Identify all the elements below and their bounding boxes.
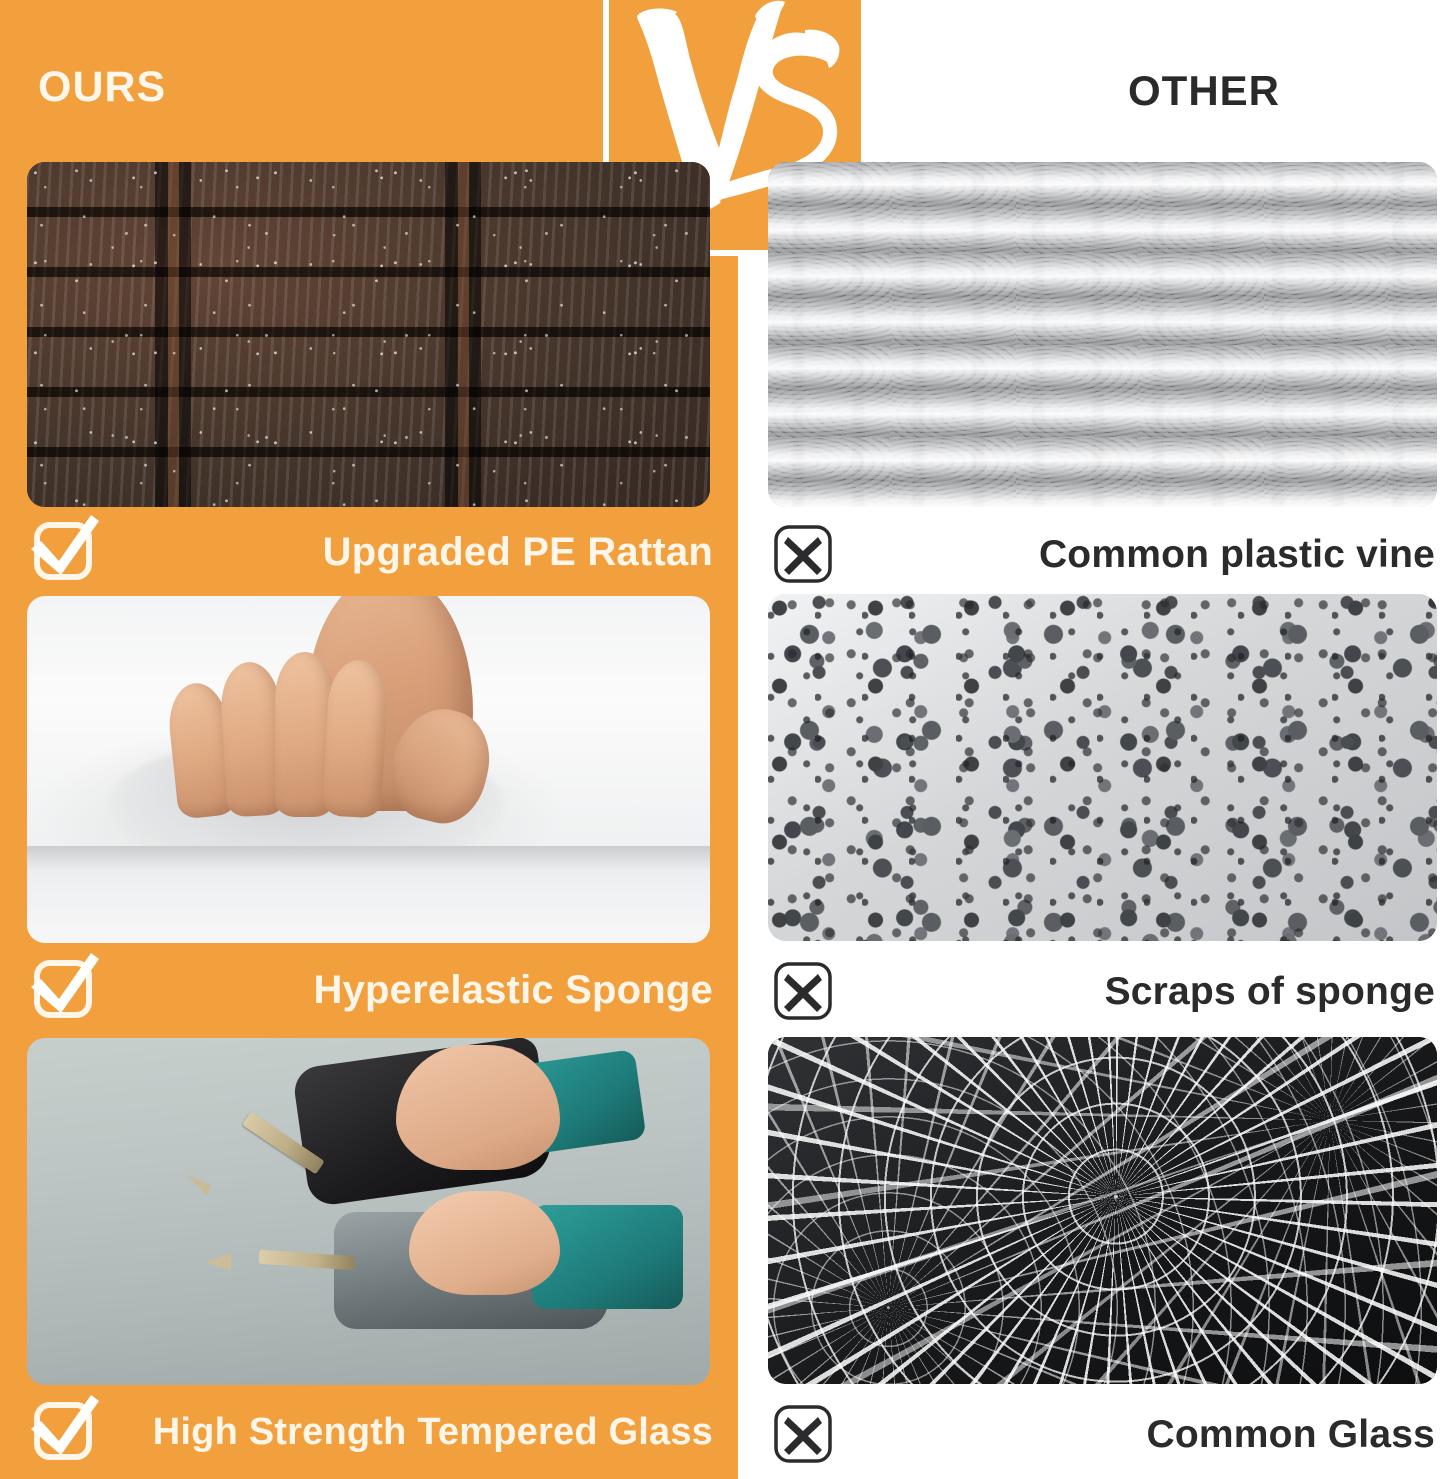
other-caption-row-3: Common Glass: [773, 1398, 1435, 1470]
other-image-plastic-vine: [768, 162, 1437, 507]
other-image-common-glass: [768, 1037, 1437, 1384]
comparison-infographic: OURS OTHER: [0, 0, 1445, 1479]
other-caption-label-3: Common Glass: [833, 1415, 1435, 1454]
ours-image-tempered-glass: [27, 1038, 710, 1385]
finger-4: [322, 658, 390, 818]
pe-rattan-texture: [27, 162, 710, 507]
ours-caption-row-1: Upgraded PE Rattan: [33, 514, 713, 590]
ours-caption-row-2: Hyperelastic Sponge: [33, 952, 713, 1028]
ours-caption-label-2: Hyperelastic Sponge: [99, 970, 713, 1010]
drill-bit-lower-tip: [205, 1253, 231, 1271]
scrap-sponge-texture: [768, 594, 1437, 941]
hand-lower: [409, 1191, 559, 1295]
x-icon: [773, 1404, 833, 1464]
drill-on-glass-photo: [27, 1038, 710, 1385]
drill-bit-upper-tip: [183, 1176, 211, 1196]
other-caption-label-1: Common plastic vine: [833, 535, 1435, 574]
check-icon: [33, 519, 99, 585]
ours-caption-label-3: High Strength Tempered Glass: [99, 1413, 713, 1451]
foam-front-edge: [27, 846, 710, 943]
x-icon: [773, 961, 833, 1021]
hand-pressing-foam: [164, 596, 560, 832]
ours-image-hyperelastic-sponge: [27, 596, 710, 943]
hand-upper: [396, 1045, 560, 1170]
other-caption-row-2: Scraps of sponge: [773, 955, 1435, 1027]
other-image-scrap-sponge: [768, 594, 1437, 941]
ours-heading: OURS: [38, 66, 166, 109]
other-heading: OTHER: [1128, 70, 1280, 112]
plastic-vine-texture: [768, 162, 1437, 507]
check-icon: [33, 1399, 99, 1465]
check-icon: [33, 957, 99, 1023]
ours-image-pe-rattan: [27, 162, 710, 507]
x-icon: [773, 524, 833, 584]
ours-caption-row-3: High Strength Tempered Glass: [33, 1394, 713, 1470]
ours-caption-label-1: Upgraded PE Rattan: [99, 532, 713, 572]
other-caption-row-1: Common plastic vine: [773, 518, 1435, 590]
shattered-glass-texture: [768, 1037, 1437, 1384]
other-caption-label-2: Scraps of sponge: [833, 972, 1435, 1011]
white-foam-photo: [27, 596, 710, 943]
